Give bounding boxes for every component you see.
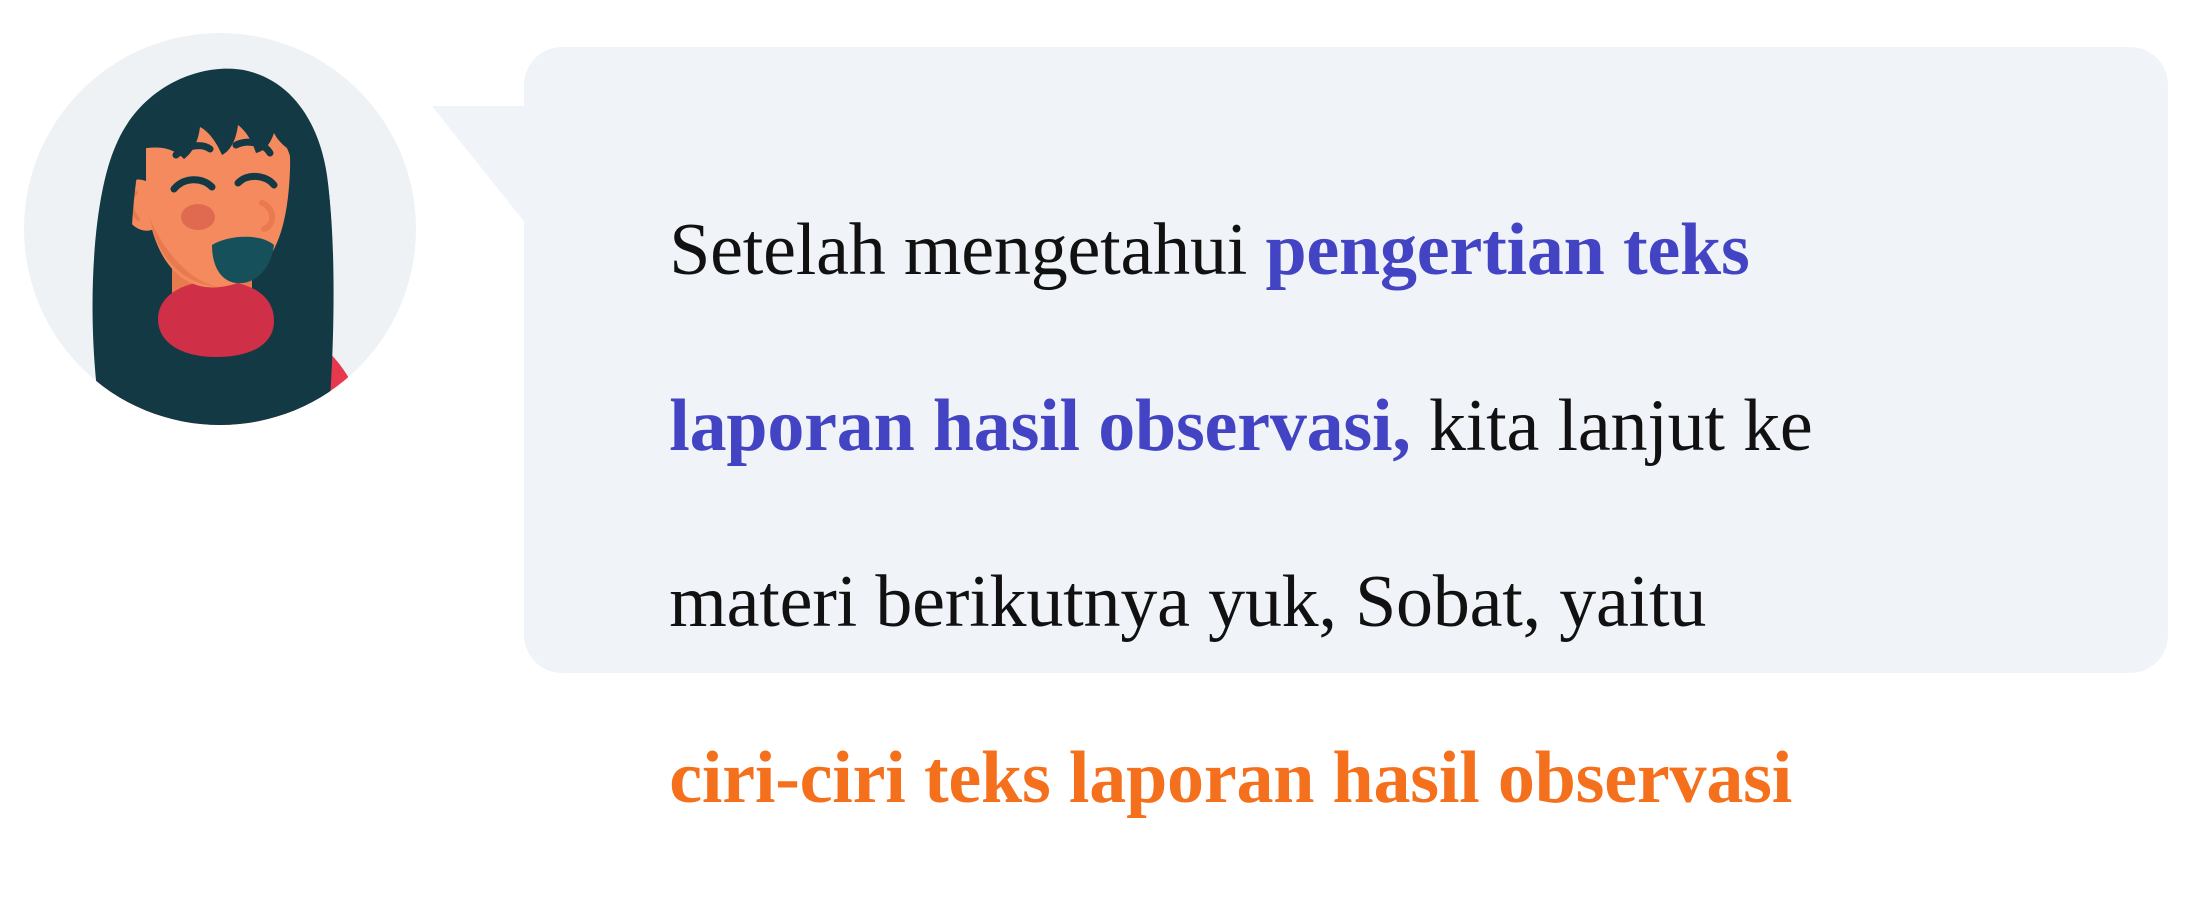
- avatar: [24, 33, 416, 425]
- cheek-blush: [181, 204, 215, 230]
- text-segment-highlight-blue-1: pengertian teks: [1265, 209, 1749, 291]
- message-text: Setelah mengetahui pengertian teks lapor…: [596, 118, 2136, 910]
- text-segment-plain-3: materi berikutnya yuk, Sobat, yaitu: [669, 561, 1706, 643]
- avatar-illustration: [24, 33, 416, 425]
- text-segment-plain-1: Setelah mengetahui: [669, 209, 1265, 291]
- speech-bubble-tail: [432, 106, 526, 224]
- text-segment-highlight-orange-1: ciri-ciri teks laporan hasil observasi: [669, 737, 1792, 819]
- text-segment-plain-2: kita lanjut ke: [1411, 385, 1813, 467]
- turtleneck-collar: [158, 281, 274, 357]
- speech-bubble-illustration-scene: Setelah mengetahui pengertian teks lapor…: [0, 0, 2204, 700]
- text-segment-highlight-blue-2: laporan hasil observasi,: [669, 385, 1411, 467]
